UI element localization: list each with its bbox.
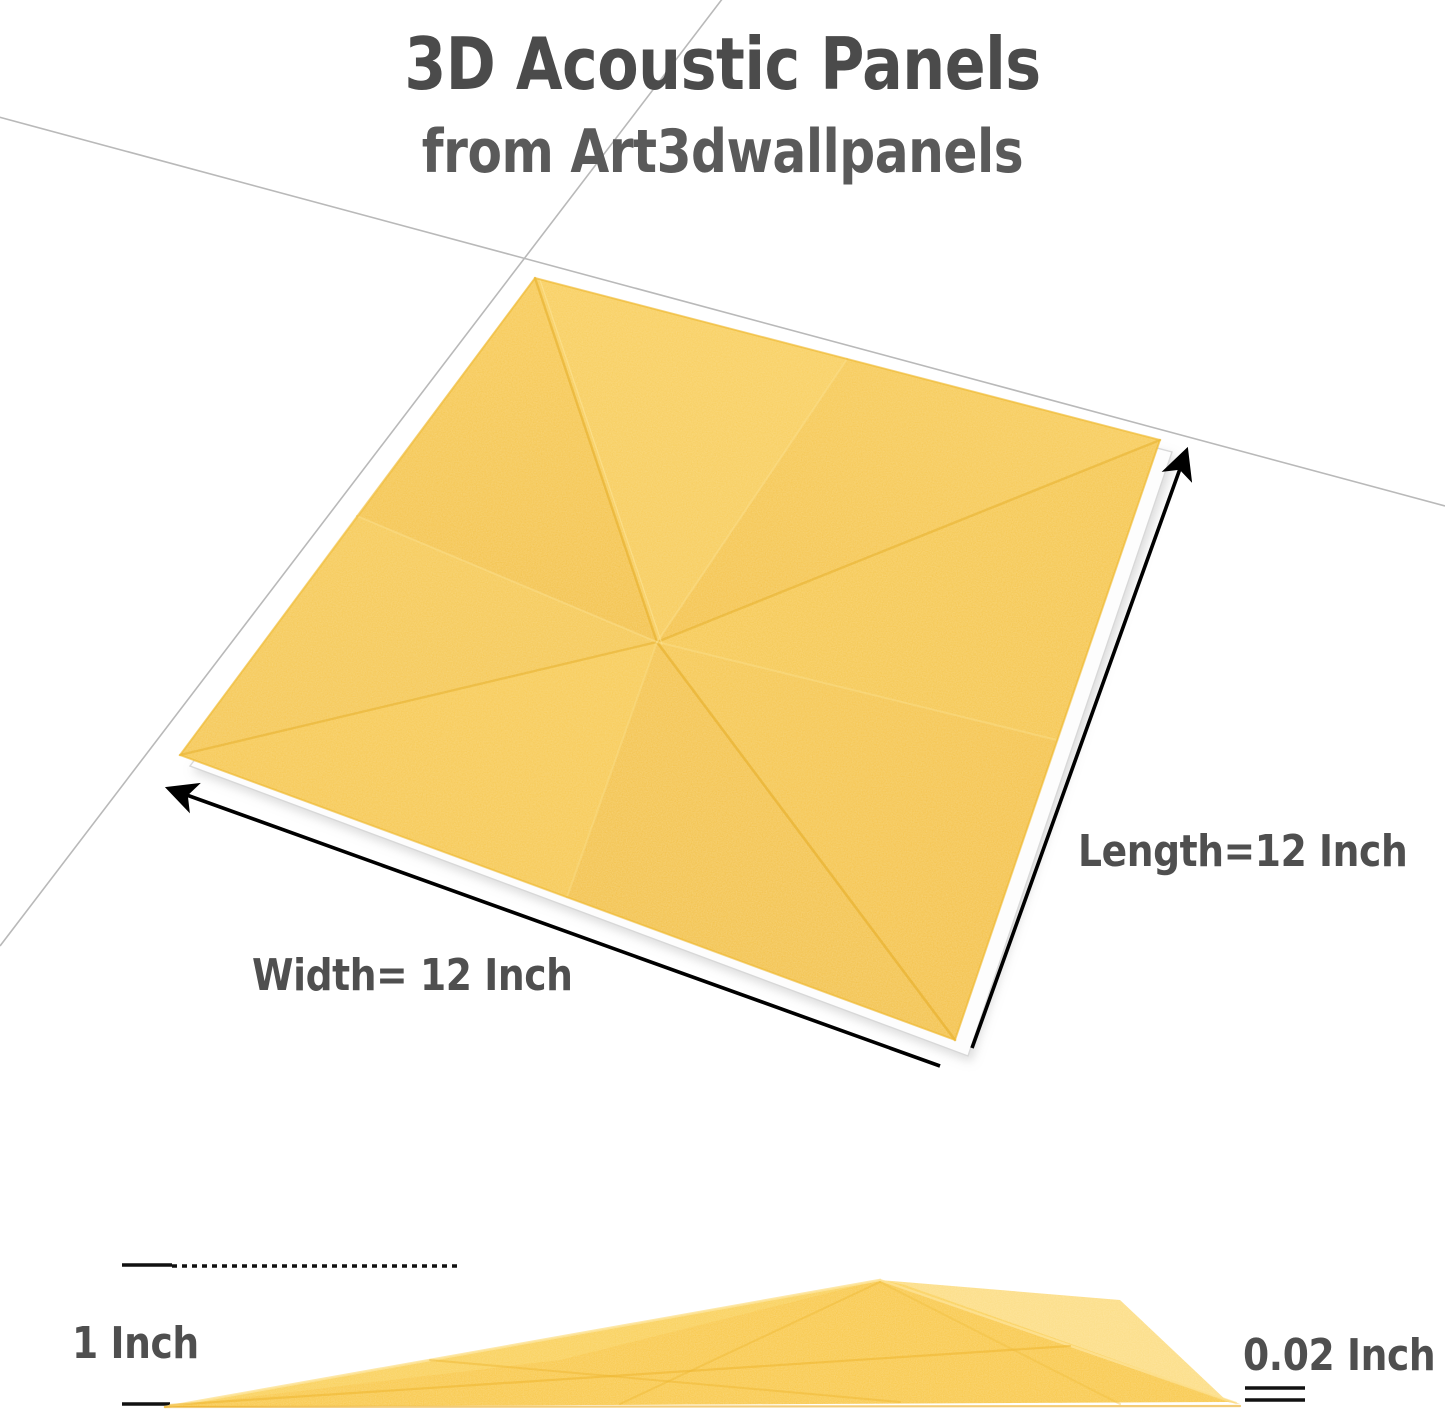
infographic-canvas: 3D Acoustic Panels from Art3dwallpanels (0, 0, 1445, 1415)
max-thickness-label: 1 Inch (72, 1318, 199, 1369)
min-thickness-label: 0.02 Inch (1243, 1330, 1435, 1381)
panel-side-view (0, 0, 1445, 1415)
thin-edge-marker (1245, 1388, 1305, 1400)
side-profile-shape (165, 1280, 1240, 1407)
